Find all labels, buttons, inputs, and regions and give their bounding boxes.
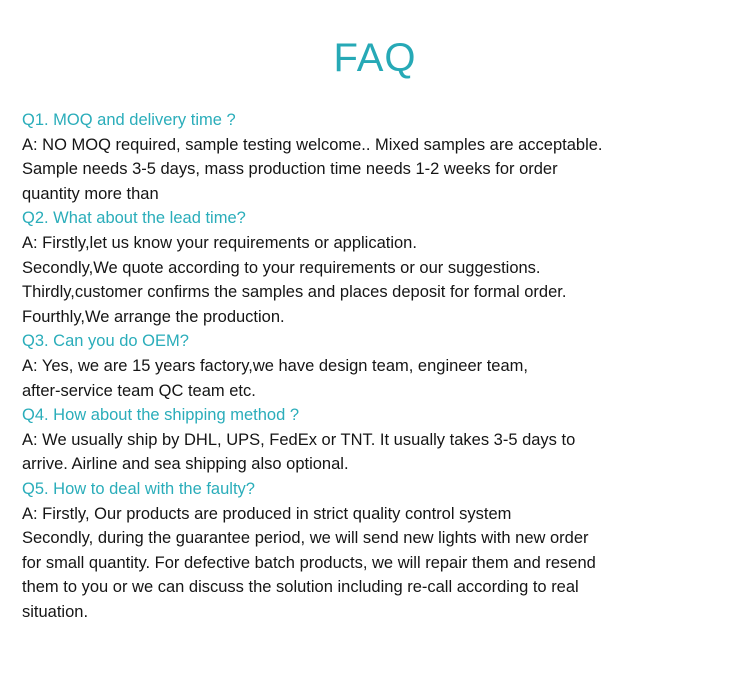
- faq-answer-line: Secondly,We quote according to your requ…: [22, 256, 728, 281]
- faq-answer-line: A: We usually ship by DHL, UPS, FedEx or…: [22, 428, 728, 453]
- faq-answer-line: for small quantity. For defective batch …: [22, 551, 728, 576]
- faq-question-q5: Q5. How to deal with the faulty?: [22, 477, 728, 502]
- faq-answer-line: Secondly, during the guarantee period, w…: [22, 526, 728, 551]
- faq-answer-line: A: Firstly,let us know your requirements…: [22, 231, 728, 256]
- faq-page: FAQ Q1. MOQ and delivery time ? A: NO MO…: [0, 0, 750, 682]
- faq-question-q2: Q2. What about the lead time?: [22, 206, 728, 231]
- faq-item-q5: Q5. How to deal with the faulty? A: Firs…: [22, 477, 728, 625]
- faq-question-q1: Q1. MOQ and delivery time ?: [22, 108, 728, 133]
- faq-answer-line: Sample needs 3-5 days, mass production t…: [22, 157, 728, 182]
- faq-answer-line: A: Firstly, Our products are produced in…: [22, 502, 728, 527]
- faq-answer-line: them to you or we can discuss the soluti…: [22, 575, 728, 600]
- page-title: FAQ: [0, 0, 750, 78]
- faq-item-q1: Q1. MOQ and delivery time ? A: NO MOQ re…: [22, 108, 728, 206]
- faq-answer-line: A: Yes, we are 15 years factory,we have …: [22, 354, 728, 379]
- faq-item-q2: Q2. What about the lead time? A: Firstly…: [22, 206, 728, 329]
- faq-question-q3: Q3. Can you do OEM?: [22, 329, 728, 354]
- faq-answer-line: quantity more than: [22, 182, 728, 207]
- faq-answer-line: A: NO MOQ required, sample testing welco…: [22, 133, 728, 158]
- faq-answer-line: after-service team QC team etc.: [22, 379, 728, 404]
- faq-answer-line: Thirdly,customer confirms the samples an…: [22, 280, 728, 305]
- faq-answer-line: situation.: [22, 600, 728, 625]
- faq-question-q4: Q4. How about the shipping method ?: [22, 403, 728, 428]
- faq-answer-line: Fourthly,We arrange the production.: [22, 305, 728, 330]
- faq-item-q3: Q3. Can you do OEM? A: Yes, we are 15 ye…: [22, 329, 728, 403]
- faq-item-q4: Q4. How about the shipping method ? A: W…: [22, 403, 728, 477]
- faq-list: Q1. MOQ and delivery time ? A: NO MOQ re…: [0, 108, 750, 624]
- faq-answer-line: arrive. Airline and sea shipping also op…: [22, 452, 728, 477]
